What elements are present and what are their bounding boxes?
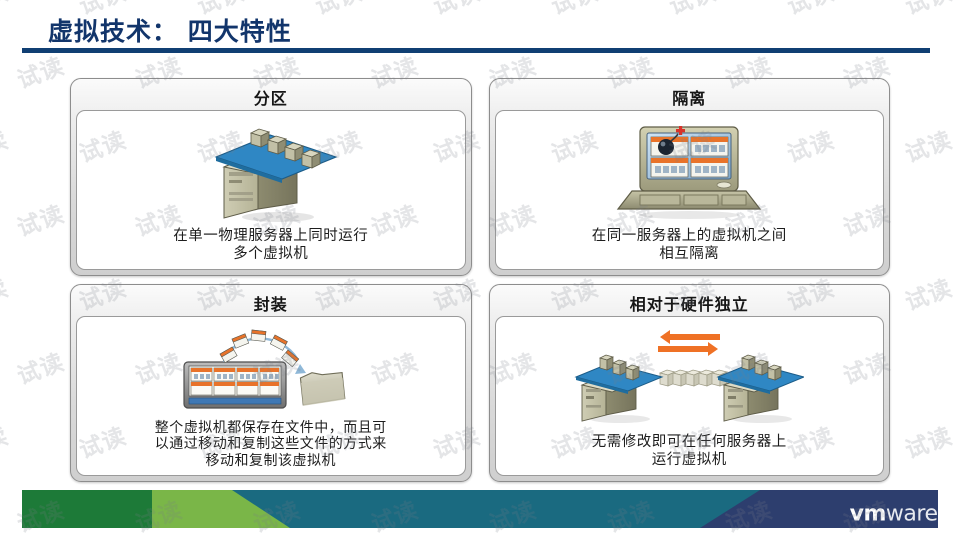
watermark-text: 试读 xyxy=(956,343,960,391)
vmware-logo-vm: vm xyxy=(850,501,886,526)
panel-partitioning[interactable]: 分区 xyxy=(70,78,472,276)
panel-title-encapsulation: 封装 xyxy=(76,290,466,316)
vmware-logo-ware: ware xyxy=(886,501,938,526)
watermark-text: 试读 xyxy=(0,121,12,169)
panel-body-encapsulation: 整个虚拟机都保存在文件中，而且可 以通过移动和复制这些文件的方式来 移动和复制该… xyxy=(76,316,466,476)
panel-title-partitioning: 分区 xyxy=(76,84,466,110)
watermark-text: 试读 xyxy=(900,417,957,465)
footer-dark-green-band xyxy=(22,490,160,528)
panel-isolation[interactable]: 隔离 xyxy=(489,78,891,276)
feature-panel-grid: 分区 xyxy=(70,78,890,482)
panel-title-isolation: 隔离 xyxy=(495,84,885,110)
watermark-text: 试读 xyxy=(956,195,960,243)
panel-caption-partitioning: 在单一物理服务器上同时运行 多个虚拟机 xyxy=(77,227,465,269)
panel-caption-isolation: 在同一服务器上的虚拟机之间 相互隔离 xyxy=(496,227,884,269)
server-to-server-migration-icon xyxy=(496,317,884,433)
watermark-text: 试读 xyxy=(900,269,957,317)
watermark-text: 试读 xyxy=(12,195,69,243)
server-with-vm-platform-icon xyxy=(77,111,465,227)
panel-body-hardware-independence: 无需修改即可在任何服务器上 运行虚拟机 xyxy=(495,316,885,476)
panel-body-partitioning: 在单一物理服务器上同时运行 多个虚拟机 xyxy=(76,110,466,270)
vmware-logo-registered-mark: ® xyxy=(938,505,947,515)
watermark-text: 试读 xyxy=(12,343,69,391)
page-title: 虚拟技术： 四大特性 xyxy=(48,12,292,48)
panel-hardware-independence[interactable]: 相对于硬件独立 xyxy=(489,284,891,482)
title-underline-rule xyxy=(22,48,930,53)
panel-caption-hardware-independence: 无需修改即可在任何服务器上 运行虚拟机 xyxy=(496,433,884,475)
panel-caption-encapsulation: 整个虚拟机都保存在文件中，而且可 以通过移动和复制这些文件的方式来 移动和复制该… xyxy=(77,420,465,475)
footer-ribbon: vmware® xyxy=(0,490,960,532)
laptop-with-vm-windows-icon xyxy=(496,111,884,227)
watermark-text: 试读 xyxy=(0,269,12,317)
panel-body-isolation: 在同一服务器上的虚拟机之间 相互隔离 xyxy=(495,110,885,270)
panel-encapsulation[interactable]: 封装 xyxy=(70,284,472,482)
slide-canvas: 虚拟技术： 四大特性 分区 xyxy=(0,0,960,540)
slide-header: 虚拟技术： 四大特性 xyxy=(0,6,960,56)
watermark-text: 试读 xyxy=(900,121,957,169)
vmware-logo: vmware® xyxy=(850,499,946,525)
watermark-text: 试读 xyxy=(0,417,12,465)
panel-title-hardware-independence: 相对于硬件独立 xyxy=(495,290,885,316)
vm-rack-to-folder-icon xyxy=(77,317,465,420)
